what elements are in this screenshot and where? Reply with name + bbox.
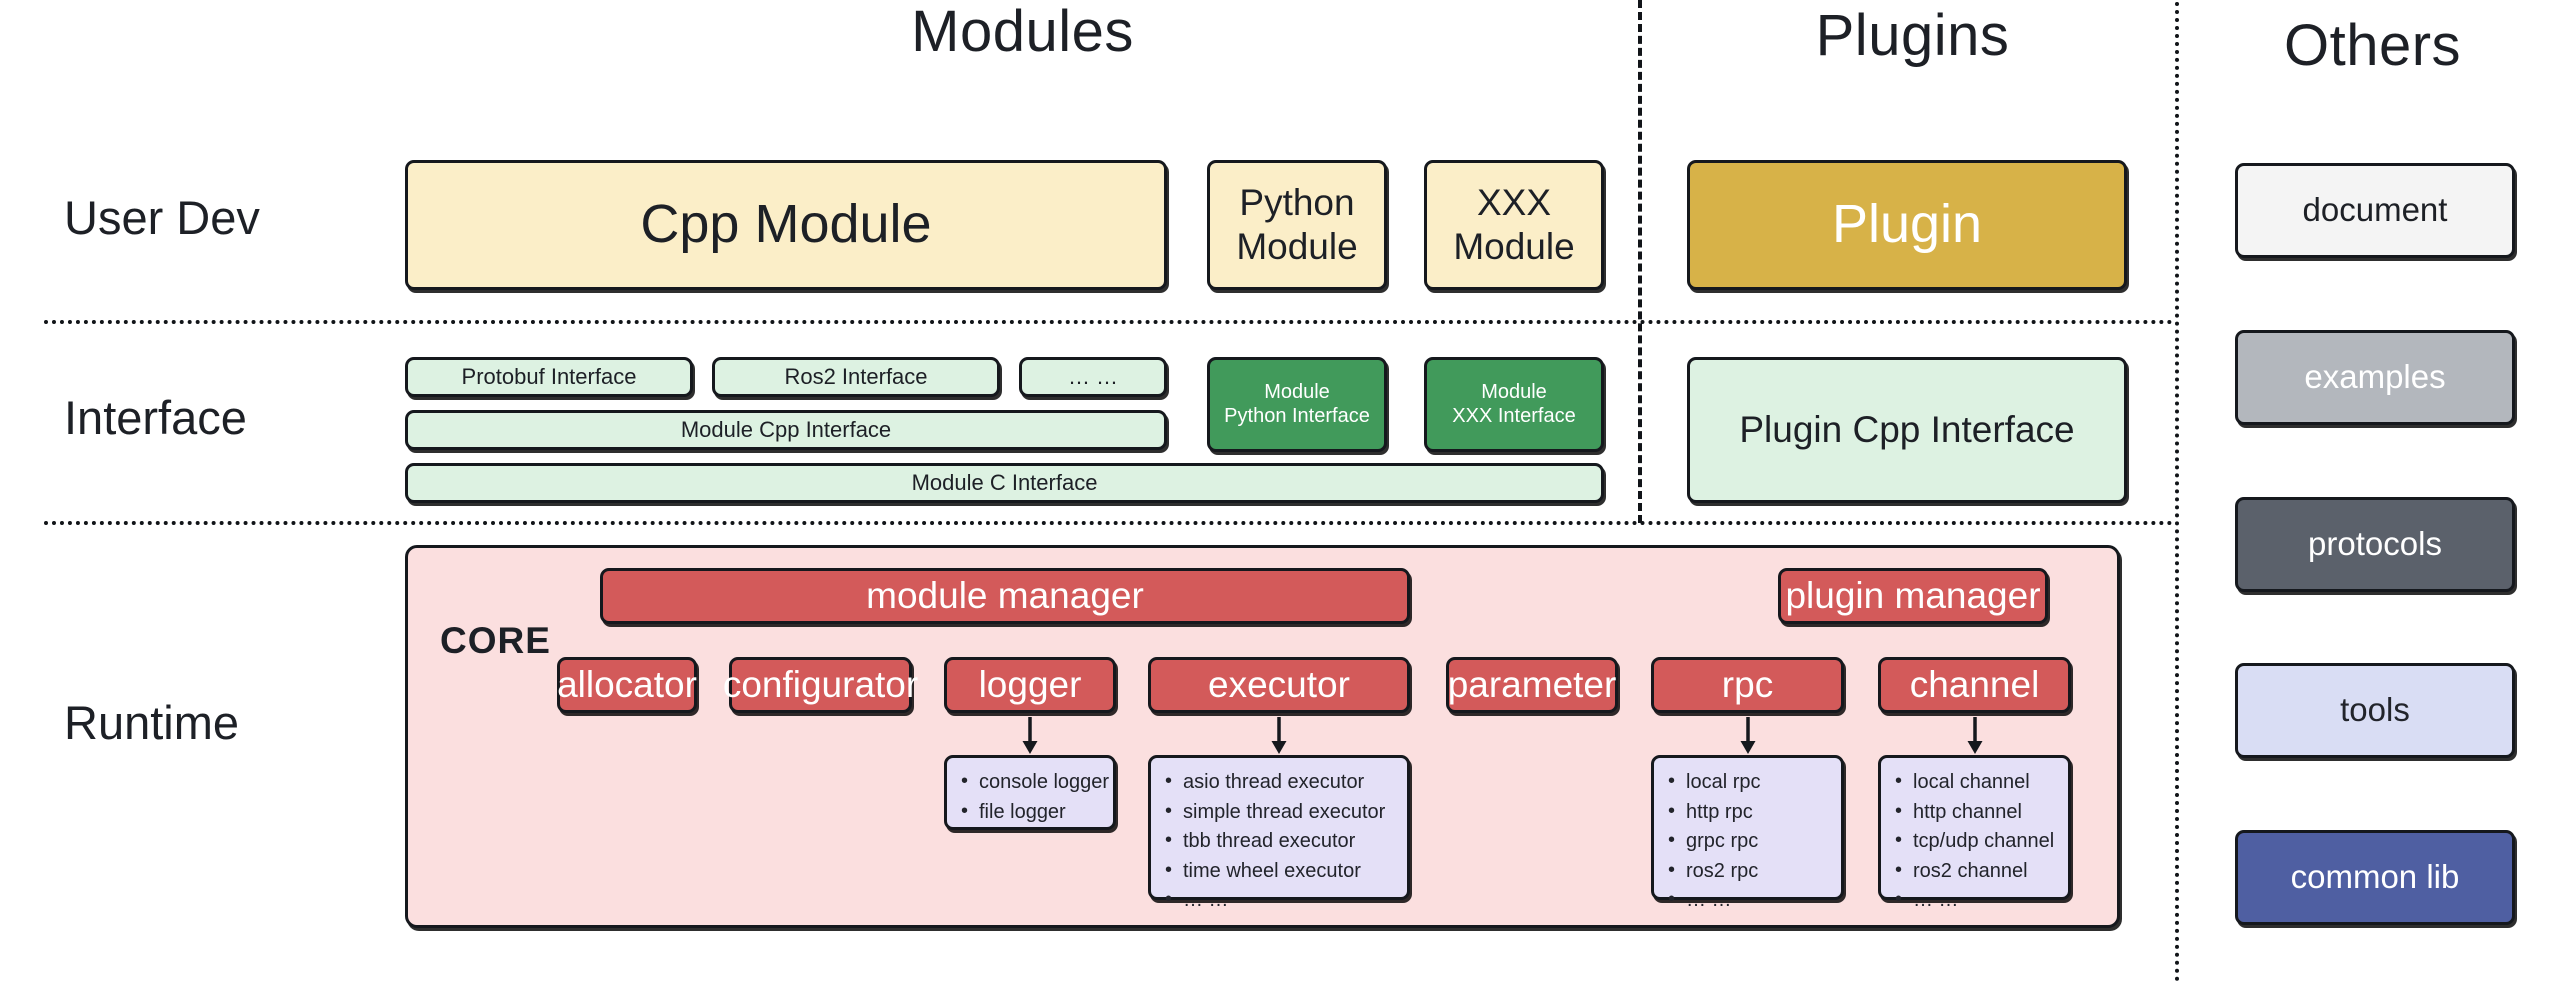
plugin-manager-box[interactable]: plugin manager bbox=[1778, 568, 2048, 624]
configurator-label: configurator bbox=[723, 663, 918, 707]
column-heading-modules: Modules bbox=[405, 0, 1640, 65]
module-manager-label: module manager bbox=[866, 574, 1144, 618]
others-protocols-label: protocols bbox=[2308, 525, 2442, 564]
ros2-interface-box[interactable]: Ros2 Interface bbox=[712, 357, 1000, 397]
module-c-interface-label: Module C Interface bbox=[912, 470, 1098, 496]
xxx-module-label: XXX Module bbox=[1453, 181, 1574, 268]
logger-box[interactable]: logger bbox=[944, 657, 1116, 713]
row-heading-interface: Interface bbox=[64, 390, 247, 445]
list-item: … … bbox=[1686, 886, 1835, 916]
module-python-interface-label: Module Python Interface bbox=[1224, 381, 1370, 428]
list-item: http rpc bbox=[1686, 798, 1835, 828]
channel-details-box[interactable]: local channel http channel tcp/udp chann… bbox=[1878, 755, 2071, 900]
protobuf-interface-label: Protobuf Interface bbox=[462, 364, 637, 390]
executor-label: executor bbox=[1208, 663, 1350, 707]
configurator-box[interactable]: configurator bbox=[729, 657, 912, 713]
cpp-module-box[interactable]: Cpp Module bbox=[405, 160, 1167, 290]
allocator-label: allocator bbox=[557, 663, 697, 707]
rpc-arrow-icon bbox=[1737, 716, 1759, 756]
divider-plugins-others bbox=[2175, 2, 2179, 982]
divider-interface-runtime bbox=[44, 521, 2174, 525]
others-document-label: document bbox=[2303, 191, 2448, 230]
row-heading-user-dev: User Dev bbox=[64, 190, 260, 245]
others-examples-box[interactable]: examples bbox=[2235, 330, 2515, 425]
channel-details-list: local channel http channel tcp/udp chann… bbox=[1891, 768, 2062, 916]
module-python-interface-box[interactable]: Module Python Interface bbox=[1207, 357, 1387, 452]
list-item: … … bbox=[1183, 886, 1401, 916]
rpc-box[interactable]: rpc bbox=[1651, 657, 1844, 713]
column-heading-plugins: Plugins bbox=[1650, 2, 2175, 69]
module-xxx-interface-box[interactable]: Module XXX Interface bbox=[1424, 357, 1604, 452]
list-item: tbb thread executor bbox=[1183, 827, 1401, 857]
list-item: simple thread executor bbox=[1183, 798, 1401, 828]
parameter-label: parameter bbox=[1448, 663, 1617, 707]
list-item: console logger bbox=[979, 768, 1107, 798]
plugin-box[interactable]: Plugin bbox=[1687, 160, 2127, 290]
logger-details-list: console logger file logger bbox=[957, 768, 1107, 827]
list-item: local channel bbox=[1913, 768, 2062, 798]
executor-box[interactable]: executor bbox=[1148, 657, 1410, 713]
protobuf-interface-box[interactable]: Protobuf Interface bbox=[405, 357, 693, 397]
list-item: file logger bbox=[979, 798, 1107, 828]
rpc-label: rpc bbox=[1722, 663, 1773, 707]
allocator-box[interactable]: allocator bbox=[557, 657, 697, 713]
module-manager-box[interactable]: module manager bbox=[600, 568, 1410, 624]
more-interface-box[interactable]: … … bbox=[1019, 357, 1167, 397]
logger-label: logger bbox=[979, 663, 1082, 707]
others-protocols-box[interactable]: protocols bbox=[2235, 497, 2515, 592]
cpp-module-label: Cpp Module bbox=[640, 193, 931, 257]
python-module-label: Python Module bbox=[1236, 181, 1357, 268]
list-item: tcp/udp channel bbox=[1913, 827, 2062, 857]
executor-details-list: asio thread executor simple thread execu… bbox=[1161, 768, 1401, 916]
list-item: … … bbox=[1913, 886, 2062, 916]
column-heading-others: Others bbox=[2185, 12, 2560, 79]
core-label: CORE bbox=[440, 620, 551, 662]
list-item: asio thread executor bbox=[1183, 768, 1401, 798]
plugin-label: Plugin bbox=[1832, 193, 1982, 257]
module-cpp-interface-label: Module Cpp Interface bbox=[681, 417, 891, 443]
list-item: local rpc bbox=[1686, 768, 1835, 798]
divider-user-dev-interface bbox=[44, 320, 2174, 324]
plugin-cpp-interface-label: Plugin Cpp Interface bbox=[1739, 408, 2074, 452]
rpc-details-box[interactable]: local rpc http rpc grpc rpc ros2 rpc … … bbox=[1651, 755, 1844, 900]
list-item: ros2 channel bbox=[1913, 857, 2062, 887]
others-common-lib-box[interactable]: common lib bbox=[2235, 830, 2515, 925]
module-xxx-interface-label: Module XXX Interface bbox=[1452, 381, 1575, 428]
others-document-box[interactable]: document bbox=[2235, 163, 2515, 258]
others-examples-label: examples bbox=[2304, 358, 2445, 397]
logger-details-box[interactable]: console logger file logger bbox=[944, 755, 1116, 830]
architecture-diagram: Modules Plugins Others User Dev Interfac… bbox=[0, 0, 2560, 984]
plugin-manager-label: plugin manager bbox=[1785, 574, 2040, 618]
xxx-module-box[interactable]: XXX Module bbox=[1424, 160, 1604, 290]
others-tools-label: tools bbox=[2340, 691, 2410, 730]
logger-arrow-icon bbox=[1019, 716, 1041, 756]
more-interface-label: … … bbox=[1068, 364, 1118, 390]
divider-modules-plugins bbox=[1638, 0, 1642, 523]
executor-arrow-icon bbox=[1268, 716, 1290, 756]
ros2-interface-label: Ros2 Interface bbox=[784, 364, 927, 390]
list-item: time wheel executor bbox=[1183, 857, 1401, 887]
channel-label: channel bbox=[1910, 663, 2040, 707]
others-common-lib-label: common lib bbox=[2291, 858, 2460, 897]
executor-details-box[interactable]: asio thread executor simple thread execu… bbox=[1148, 755, 1410, 900]
list-item: grpc rpc bbox=[1686, 827, 1835, 857]
others-tools-box[interactable]: tools bbox=[2235, 663, 2515, 758]
channel-arrow-icon bbox=[1964, 716, 1986, 756]
row-heading-runtime: Runtime bbox=[64, 695, 239, 750]
module-cpp-interface-box[interactable]: Module Cpp Interface bbox=[405, 410, 1167, 450]
list-item: http channel bbox=[1913, 798, 2062, 828]
plugin-cpp-interface-box[interactable]: Plugin Cpp Interface bbox=[1687, 357, 2127, 503]
parameter-box[interactable]: parameter bbox=[1446, 657, 1618, 713]
list-item: ros2 rpc bbox=[1686, 857, 1835, 887]
python-module-box[interactable]: Python Module bbox=[1207, 160, 1387, 290]
module-c-interface-box[interactable]: Module C Interface bbox=[405, 463, 1604, 503]
channel-box[interactable]: channel bbox=[1878, 657, 2071, 713]
rpc-details-list: local rpc http rpc grpc rpc ros2 rpc … … bbox=[1664, 768, 1835, 916]
